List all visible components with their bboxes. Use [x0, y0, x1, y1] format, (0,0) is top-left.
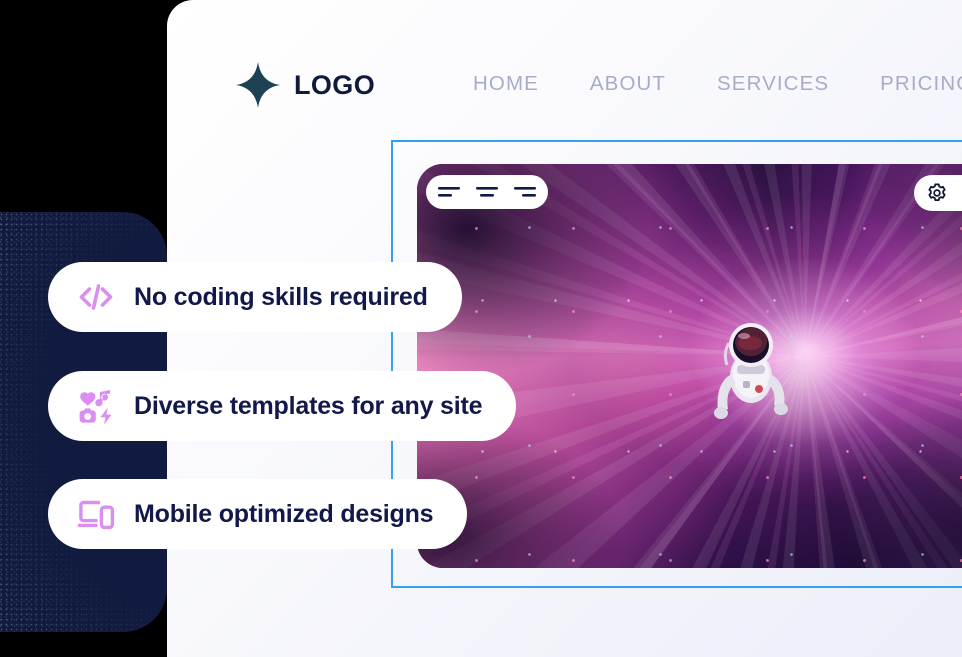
screenshot-stage: LOGO HOME ABOUT SERVICES PRICING [0, 0, 962, 657]
feature-card-label: Diverse templates for any site [134, 392, 482, 421]
astronaut-figure [710, 319, 794, 429]
brand-logo[interactable]: LOGO [236, 62, 375, 108]
feature-card[interactable]: No coding skills required [48, 262, 462, 332]
action-toolbar [914, 175, 962, 211]
feature-card-label: No coding skills required [134, 283, 428, 312]
feature-card[interactable]: Mobile optimized designs [48, 479, 467, 549]
site-header: LOGO HOME ABOUT SERVICES PRICING [167, 0, 962, 150]
align-toolbar [426, 175, 548, 209]
nav-link-pricing[interactable]: PRICING [880, 72, 962, 96]
nav-link-about[interactable]: ABOUT [590, 72, 666, 96]
responsive-devices-icon [76, 494, 116, 534]
gear-icon[interactable] [926, 182, 948, 204]
template-grid-icon [76, 386, 116, 426]
brand-name: LOGO [294, 70, 375, 101]
main-navigation: HOME ABOUT SERVICES PRICING [473, 72, 962, 96]
feature-card-label: Mobile optimized designs [134, 500, 433, 529]
canvas-image[interactable] [417, 164, 962, 568]
feature-card[interactable]: Diverse templates for any site [48, 371, 516, 441]
nebula-sparks [417, 164, 962, 568]
align-left-button[interactable] [437, 183, 461, 201]
nav-link-home[interactable]: HOME [473, 72, 539, 96]
align-center-button[interactable] [475, 183, 499, 201]
four-point-star-icon [236, 62, 280, 108]
align-right-button[interactable] [513, 183, 537, 201]
code-brackets-icon [76, 277, 116, 317]
nav-link-services[interactable]: SERVICES [717, 72, 829, 96]
